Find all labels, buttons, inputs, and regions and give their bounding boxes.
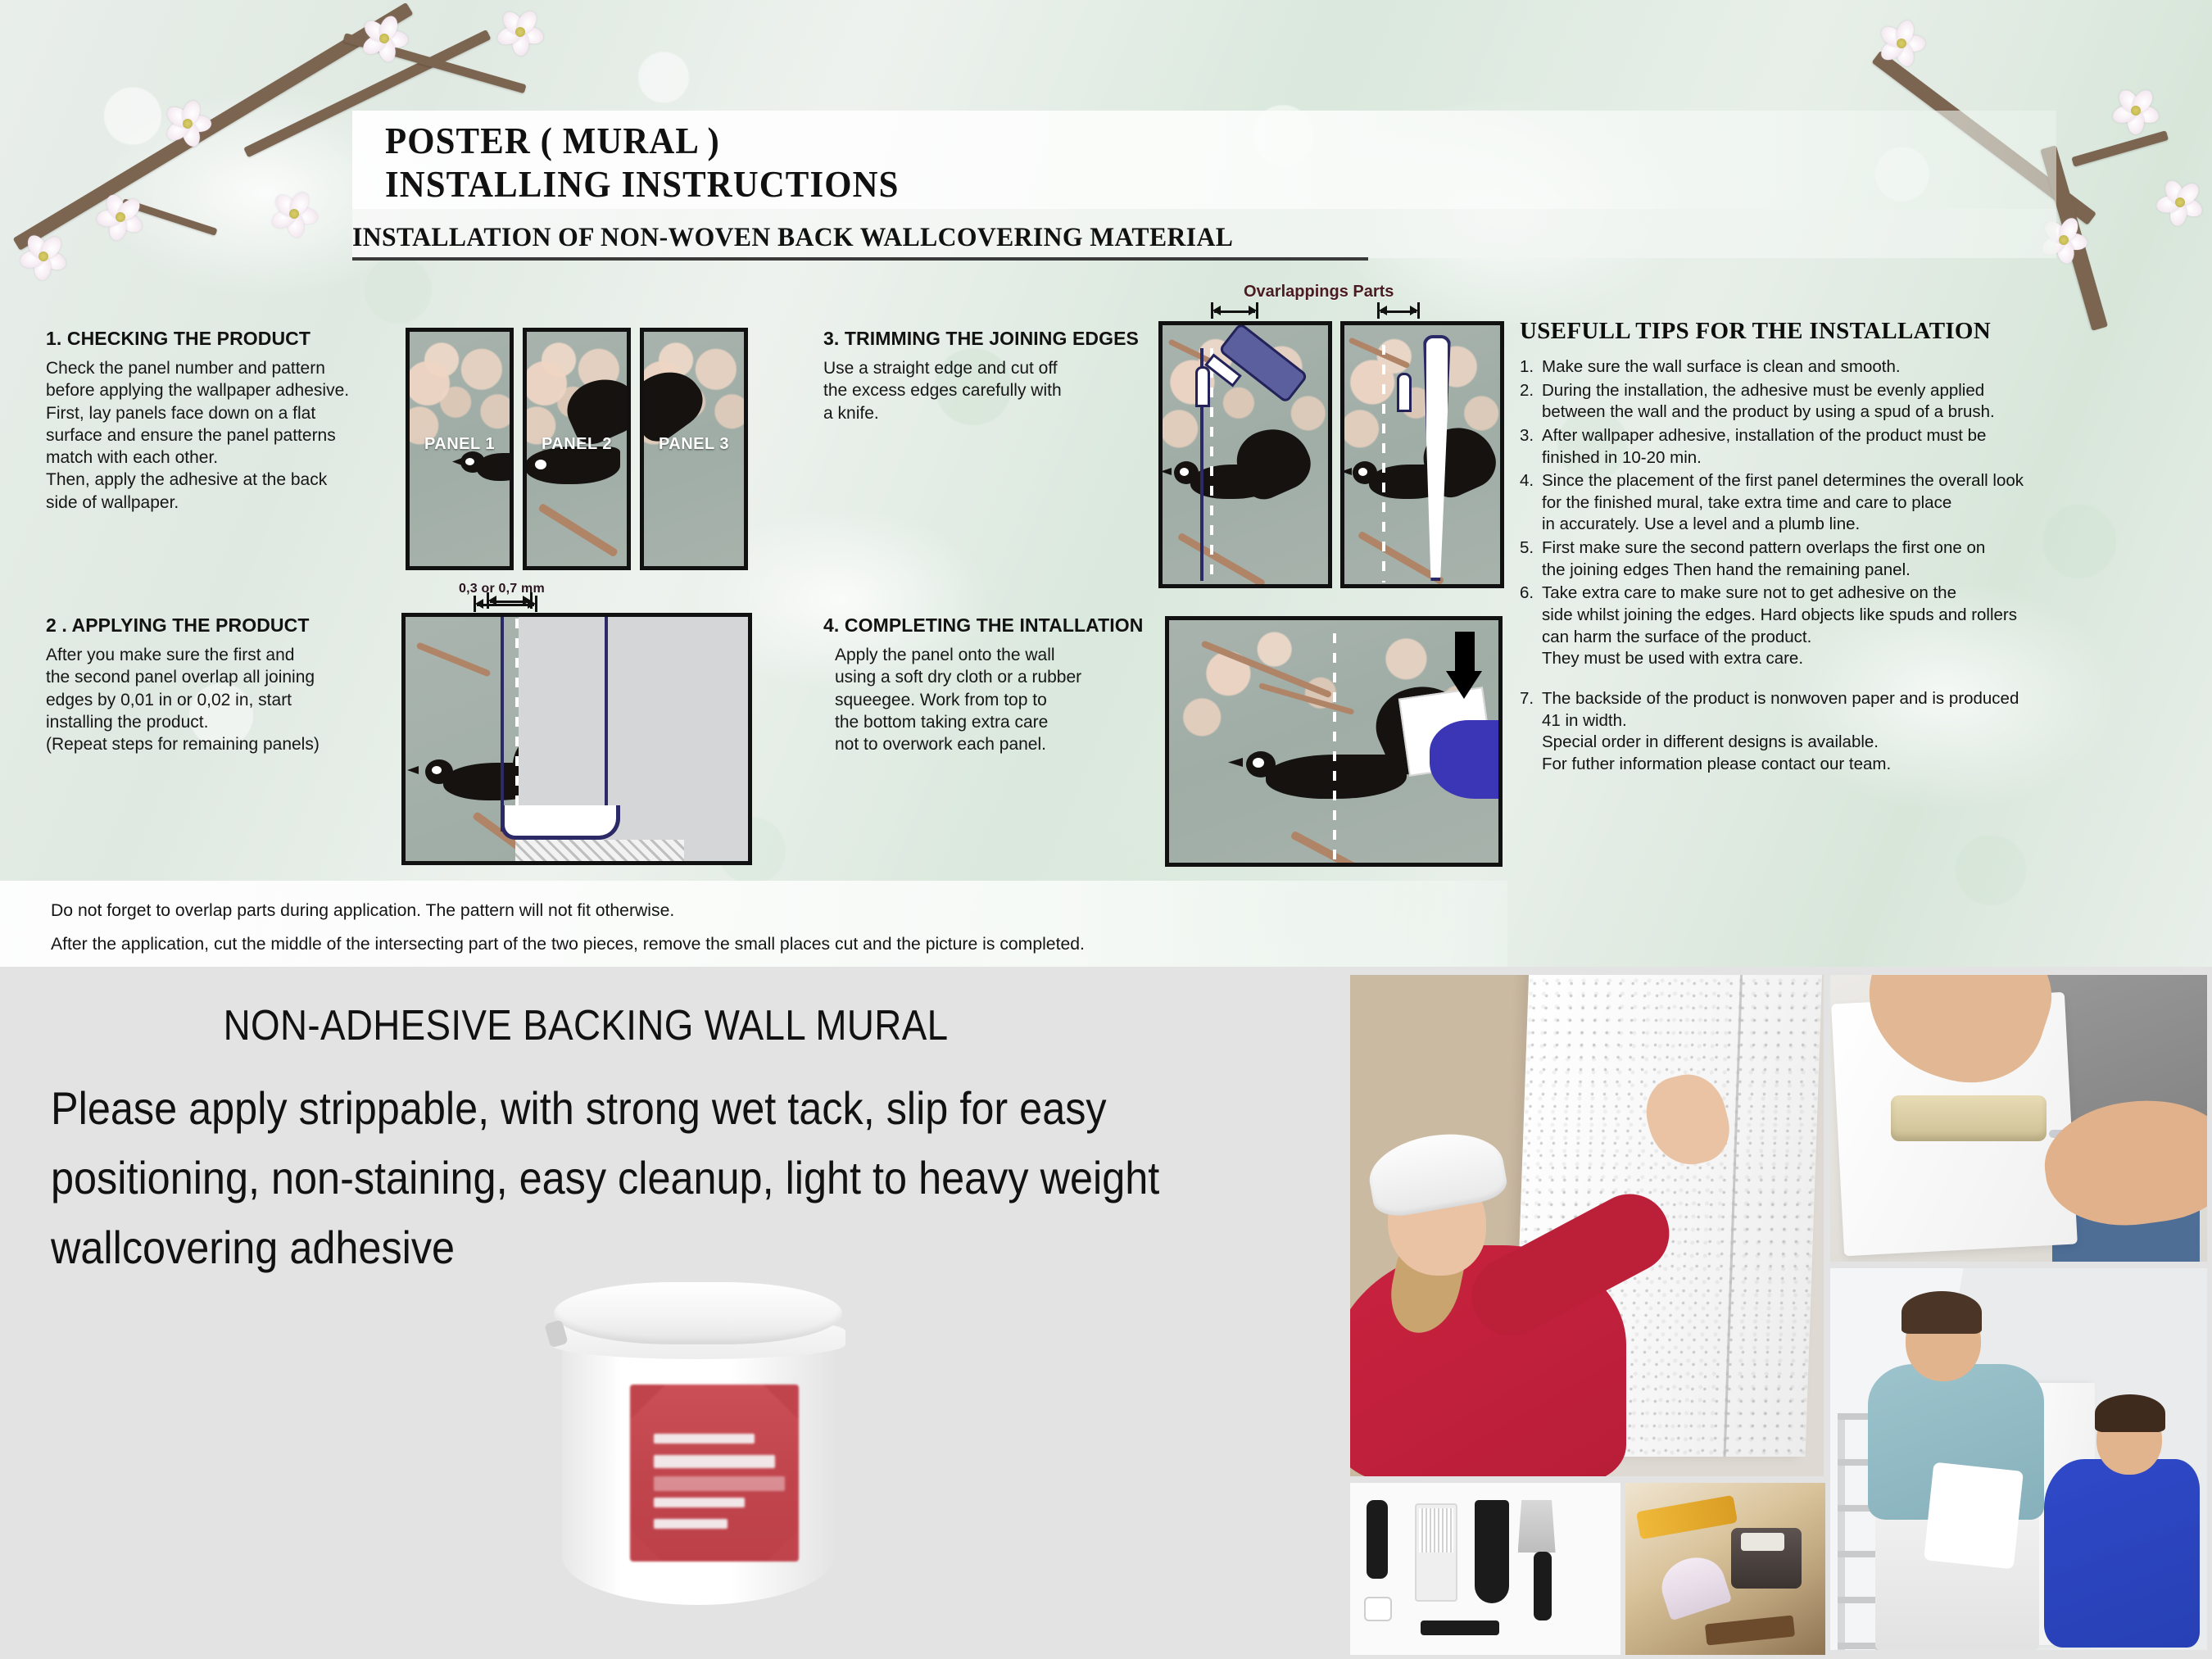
branch-twig xyxy=(537,503,619,558)
tip-line: Special order in different designs is av… xyxy=(1542,732,2019,754)
tip-number: 7. xyxy=(1520,688,1542,776)
cut-line-dashed xyxy=(1382,345,1385,582)
step-1-line-1: Check the panel number and pattern xyxy=(46,357,398,379)
overlap-dimension-arrow xyxy=(487,592,533,610)
step-3-line-3: a knife. xyxy=(823,402,1151,424)
seam-roller-icon xyxy=(1364,1597,1392,1621)
footer-notes: Do not forget to overlap parts during ap… xyxy=(0,881,1507,967)
step-3-line-2: the excess edges carefully with xyxy=(823,379,1151,401)
tip-number: 1. xyxy=(1520,356,1542,378)
step-2-line-2: the second panel overlap all joining xyxy=(46,666,398,688)
tip-line: 41 in width. xyxy=(1542,710,2019,732)
tip-text: Make sure the wall surface is clean and … xyxy=(1542,356,1901,378)
tip-line: After wallpaper adhesive, installation o… xyxy=(1542,425,1986,447)
note-line-2: After the application, cut the middle of… xyxy=(51,927,1485,961)
step-4-line-2: using a soft dry cloth or a rubber xyxy=(835,666,1151,688)
tip-line: finished in 10-20 min. xyxy=(1542,447,1986,469)
tip-line: side whilst joining the edges. Hard obje… xyxy=(1542,605,2017,627)
step-2-body: After you make sure the first and the se… xyxy=(46,644,398,755)
wallpaper-roll xyxy=(1655,1550,1733,1621)
useful-tips-section: USEFULL TIPS FOR THE INSTALLATION 1. Mak… xyxy=(1520,318,2167,777)
step-2-heading: 2 . APPLYING THE PRODUCT xyxy=(46,614,398,637)
tip-text: First make sure the second pattern overl… xyxy=(1542,537,1985,581)
step-4-body: Apply the panel onto the wall using a so… xyxy=(823,644,1151,755)
step-2-line-3: edges by 0,01 in or 0,02 in, start xyxy=(46,689,398,711)
scraper-icon xyxy=(1475,1500,1509,1603)
tip-item: 2. During the installation, the adhesive… xyxy=(1520,380,2167,424)
putty-knife-handle-icon xyxy=(1534,1552,1552,1620)
tips-heading: USEFULL TIPS FOR THE INSTALLATION xyxy=(1520,318,2167,345)
bucket-lid xyxy=(554,1282,842,1344)
panel-2-label: PANEL 2 xyxy=(527,435,627,454)
step-1-line-5: match with each other. xyxy=(46,446,398,469)
step-1-text: 1. CHECKING THE PRODUCT Check the panel … xyxy=(46,328,398,514)
yellow-tool xyxy=(1636,1495,1738,1539)
product-headline: NON-ADHESIVE BACKING WALL MURAL xyxy=(70,1001,1101,1050)
step-1-line-4: surface and ensure the panel patterns xyxy=(46,424,398,446)
photo-collage xyxy=(1350,975,2207,1655)
overlap-arrow-right xyxy=(1377,301,1420,320)
panel-2-box: PANEL 2 xyxy=(523,328,631,570)
photo-wallpaper-supplies xyxy=(1625,1483,1825,1655)
cut-line-dashed xyxy=(1210,348,1213,581)
step-1-body: Check the panel number and pattern befor… xyxy=(46,357,398,514)
poster-page: POSTER ( MURAL ) INSTALLING INSTRUCTIONS… xyxy=(0,0,2212,1659)
title-line-2: INSTALLING INSTRUCTIONS xyxy=(385,162,900,206)
photo-paste-roller xyxy=(1830,975,2207,1262)
tip-text: Since the placement of the first panel d… xyxy=(1542,470,2024,536)
product-paragraph-line-2: positioning, non-staining, easy cleanup,… xyxy=(51,1143,1201,1213)
apply-panel-box xyxy=(1165,616,1503,867)
overlap-fold-shape xyxy=(501,805,620,840)
tip-text: The backside of the product is nonwoven … xyxy=(1542,688,2019,776)
cut-line-dashed xyxy=(515,619,519,828)
step-3-line-1: Use a straight edge and cut off xyxy=(823,357,1151,379)
tip-number: 2. xyxy=(1520,380,1542,424)
tip-line: can harm the surface of the product. xyxy=(1542,627,2017,649)
step-3-body: Use a straight edge and cut off the exce… xyxy=(823,357,1151,424)
panel-3-box: PANEL 3 xyxy=(640,328,748,570)
boy-hair xyxy=(2095,1394,2165,1432)
tip-number: 3. xyxy=(1520,425,1542,469)
panel-3-label: PANEL 3 xyxy=(644,435,744,454)
paste-brush xyxy=(1705,1616,1795,1646)
step-1-line-3: First, lay panels face down on a flat xyxy=(46,402,398,424)
seam-roller-handle-icon xyxy=(1367,1500,1388,1579)
down-arrow-icon xyxy=(1446,632,1484,699)
tip-line: between the wall and the product by usin… xyxy=(1542,401,1995,424)
tip-number: 6. xyxy=(1520,582,1542,670)
panel-1-box: PANEL 1 xyxy=(406,328,514,570)
overlap-guide-left xyxy=(501,617,504,832)
tip-line: They must be used with extra care. xyxy=(1542,648,2017,670)
branch-twig xyxy=(1349,337,1411,369)
page-subtitle: INSTALLATION OF NON-WOVEN BACK WALLCOVER… xyxy=(352,223,1368,261)
step-3-heading: 3. TRIMMING THE JOINING EDGES xyxy=(823,328,1151,350)
paint-roller-icon xyxy=(1891,1095,2047,1141)
tip-text: After wallpaper adhesive, installation o… xyxy=(1542,425,1986,469)
tip-text: During the installation, the adhesive mu… xyxy=(1542,380,1995,424)
tip-line: Make sure the wall surface is clean and … xyxy=(1542,356,1901,378)
branch-twig xyxy=(1177,533,1266,588)
tip-item: 4. Since the placement of the first pane… xyxy=(1520,470,2167,536)
tip-line: For futher information please contact ou… xyxy=(1542,754,2019,776)
cut-line-dashed xyxy=(1333,633,1336,864)
step-3-text: 3. TRIMMING THE JOINING EDGES Use a stra… xyxy=(823,328,1151,424)
overlap-panel-box xyxy=(401,613,752,865)
tip-line: The backside of the product is nonwoven … xyxy=(1542,688,2019,710)
step-2-line-4: installing the product. xyxy=(46,711,398,733)
title-line-1: POSTER ( MURAL ) xyxy=(385,119,900,162)
tip-item: 1. Make sure the wall surface is clean a… xyxy=(1520,356,2167,378)
tip-line: First make sure the second pattern overl… xyxy=(1542,537,1985,560)
step-1-line-7: side of wallpaper. xyxy=(46,492,398,514)
overlapping-parts-label: Ovarlappings Parts xyxy=(1244,283,1394,301)
man-hair xyxy=(1902,1291,1982,1334)
step-4-line-5: not to overwork each panel. xyxy=(835,733,1151,755)
straight-edge-tool xyxy=(1195,366,1210,407)
smoothing-brush-icon xyxy=(1415,1503,1457,1602)
branch-twig xyxy=(1290,831,1374,867)
step-4-heading: 4. COMPLETING THE INTALLATION xyxy=(823,614,1151,637)
tip-line: in accurately. Use a level and a plumb l… xyxy=(1542,514,2024,536)
diagram-apply-cloth xyxy=(1165,616,1503,867)
tip-line: for the finished mural, take extra time … xyxy=(1542,492,2024,514)
adhesive-bucket-image xyxy=(542,1282,854,1610)
product-paragraph-line-1: Please apply strippable, with strong wet… xyxy=(51,1073,1201,1143)
installation-instructions-sheet: POSTER ( MURAL ) INSTALLING INSTRUCTIONS… xyxy=(0,0,2212,967)
straightedge-panel-box xyxy=(1340,321,1504,588)
tip-line: Since the placement of the first panel d… xyxy=(1542,470,2024,492)
tip-line: During the installation, the adhesive mu… xyxy=(1542,380,1995,402)
boy-body xyxy=(2044,1459,2200,1648)
tip-number: 4. xyxy=(1520,470,1542,536)
note-line-1: Do not forget to overlap parts during ap… xyxy=(51,894,1485,927)
tip-line: the joining edges Then hand the remainin… xyxy=(1542,560,1985,582)
putty-knife-blade-icon xyxy=(1518,1500,1556,1552)
tip-item: 7. The backside of the product is nonwov… xyxy=(1520,688,2167,776)
diagram-overlap-trim xyxy=(401,613,754,867)
step-4-line-4: the bottom taking extra care xyxy=(835,711,1151,733)
product-paragraph-line-3: wallcovering adhesive xyxy=(51,1213,1201,1282)
product-paragraph: Please apply strippable, with strong wet… xyxy=(51,1073,1201,1282)
step-4-text: 4. COMPLETING THE INTALLATION Apply the … xyxy=(823,614,1151,755)
tip-number: 5. xyxy=(1520,537,1542,581)
bucket-label xyxy=(630,1385,799,1562)
step-4-line-1: Apply the panel onto the wall xyxy=(835,644,1151,666)
photo-tool-set xyxy=(1350,1483,1620,1655)
overlap-guide-right xyxy=(605,617,608,810)
straight-edge-grip xyxy=(1397,373,1412,412)
paste-bucket xyxy=(1731,1528,1802,1589)
tip-item: 5. First make sure the second pattern ov… xyxy=(1520,537,2167,581)
bucket-body xyxy=(562,1341,834,1605)
utility-knife-icon xyxy=(1218,322,1309,404)
diagram-three-panels: PANEL 1 PANEL 2 PANEL 3 xyxy=(406,328,758,573)
step-1-heading: 1. CHECKING THE PRODUCT xyxy=(46,328,398,350)
cut-area-hatch xyxy=(515,840,684,865)
step-1-line-6: Then, apply the adhesive at the back xyxy=(46,469,398,491)
step-2-text: 2 . APPLYING THE PRODUCT After you make … xyxy=(46,614,398,755)
step-2-line-1: After you make sure the first and xyxy=(46,644,398,666)
tip-item: 3. After wallpaper adhesive, installatio… xyxy=(1520,425,2167,469)
panel-1-label: PANEL 1 xyxy=(410,435,510,454)
bird-illustration xyxy=(1169,448,1317,538)
diagram-straight-edge xyxy=(1340,321,1504,588)
photo-two-people-hanging xyxy=(1830,1268,2207,1650)
tip-item: 6. Take extra care to make sure not to g… xyxy=(1520,582,2167,670)
tip-line: Take extra care to make sure not to get … xyxy=(1542,582,2017,605)
utility-knife-icon xyxy=(1421,1620,1499,1635)
man-apron xyxy=(1924,1462,2024,1570)
subtitle-text: INSTALLATION OF NON-WOVEN BACK WALLCOVER… xyxy=(352,223,1327,253)
diagram-knife-cut xyxy=(1158,321,1332,588)
page-title: POSTER ( MURAL ) INSTALLING INSTRUCTIONS xyxy=(385,119,938,206)
tip-text: Take extra care to make sure not to get … xyxy=(1542,582,2017,670)
step-4-line-3: squeegee. Work from top to xyxy=(835,689,1151,711)
overlap-arrow-left xyxy=(1211,301,1258,320)
step-1-line-2: before applying the wallpaper adhesive. xyxy=(46,379,398,401)
photo-woman-applying-wallpaper xyxy=(1350,975,1824,1476)
step-2-line-5: (Repeat steps for remaining panels) xyxy=(46,733,398,755)
knife-panel-box xyxy=(1158,321,1332,588)
bird-illustration xyxy=(1349,448,1497,538)
